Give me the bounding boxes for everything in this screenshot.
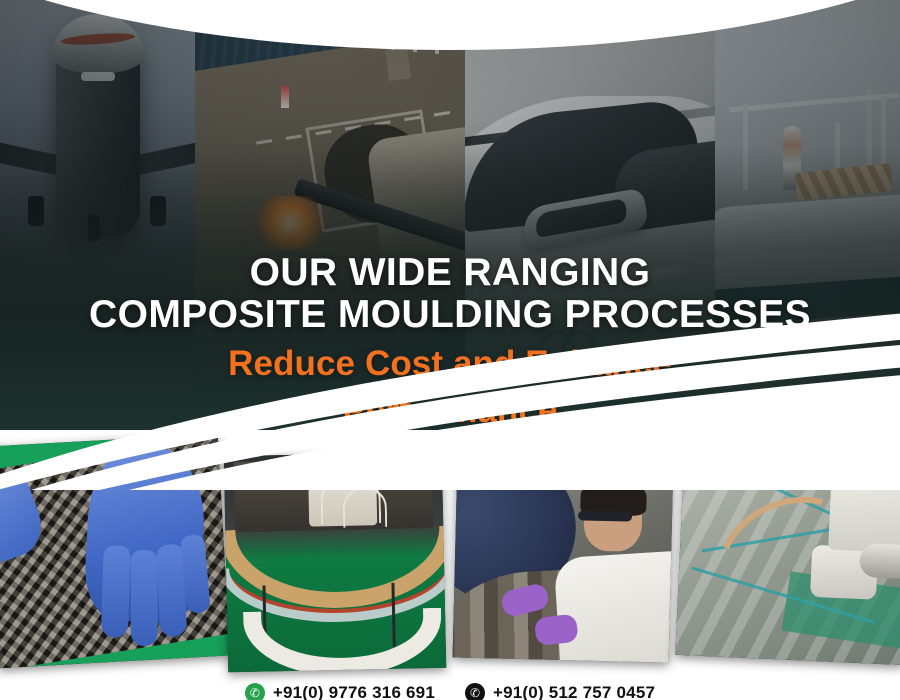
aircraft-landing-gear	[150, 196, 166, 226]
technician-labcoat	[554, 549, 674, 662]
photo-content	[0, 434, 230, 669]
vacuum-tube	[342, 487, 387, 528]
contact-whatsapp[interactable]: ✆ +91(0) 9776 316 691	[245, 683, 435, 700]
headline-line-2: COMPOSITE MOULDING PROCESSES	[0, 294, 900, 336]
process-photo-strip	[0, 408, 900, 670]
contact-phone[interactable]: ✆ +91(0) 512 757 0457	[465, 683, 655, 700]
ship-flag	[281, 86, 289, 108]
photo-content	[675, 439, 900, 665]
safety-glasses	[578, 510, 632, 521]
subheadline-line-1: Reduce Cost and Enhance	[0, 345, 900, 383]
glove-finger	[131, 550, 158, 646]
photo-content	[453, 457, 674, 662]
yacht-rail-post	[743, 104, 748, 190]
poster-root: OUR WIDE RANGING COMPOSITE MOULDING PROC…	[0, 0, 900, 700]
aircraft-cockpit-window	[81, 72, 115, 81]
headline-line-1: OUR WIDE RANGING	[0, 252, 900, 294]
headline-block: OUR WIDE RANGING COMPOSITE MOULDING PROC…	[0, 252, 900, 430]
muzzle-flash	[253, 196, 327, 250]
glove-finger	[101, 545, 131, 638]
aircraft-nose-gear	[88, 215, 100, 241]
hand-tool	[859, 543, 900, 579]
subheadline-line-2: Performance	[0, 392, 900, 430]
whatsapp-icon: ✆	[245, 683, 265, 700]
process-image-technician-finishing	[453, 457, 674, 662]
phone-icon: ✆	[465, 683, 485, 700]
worker-hair	[852, 439, 899, 465]
whatsapp-number[interactable]: +91(0) 9776 316 691	[273, 683, 435, 700]
phone-number[interactable]: +91(0) 512 757 0457	[493, 683, 655, 700]
photo-content	[224, 452, 446, 673]
aircraft-landing-gear	[28, 196, 44, 226]
process-image-carbon-fibre-layup	[0, 434, 230, 669]
process-image-vacuum-bagging	[675, 439, 900, 665]
process-image-curved-composite-parts	[224, 452, 446, 673]
contact-bar: ✆ +91(0) 9776 316 691 ✆ +91(0) 512 757 0…	[0, 683, 900, 700]
